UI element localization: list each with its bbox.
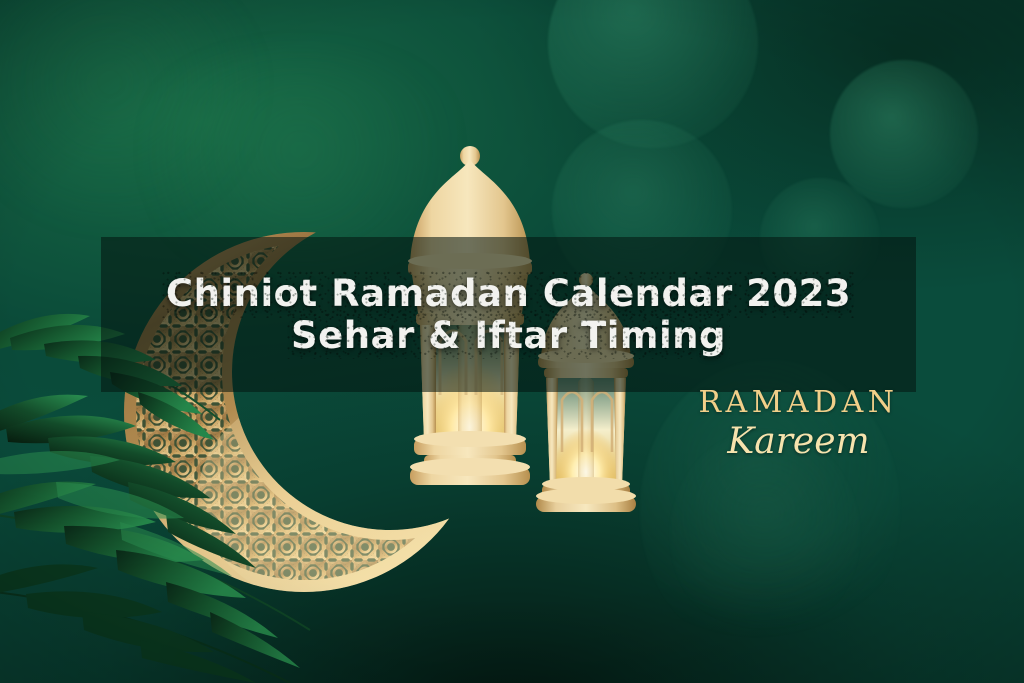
vignette-overlay [0,0,1024,683]
ramadan-calendar-poster: Chiniot Ramadan Calendar 2023 Sehar & If… [0,0,1024,683]
